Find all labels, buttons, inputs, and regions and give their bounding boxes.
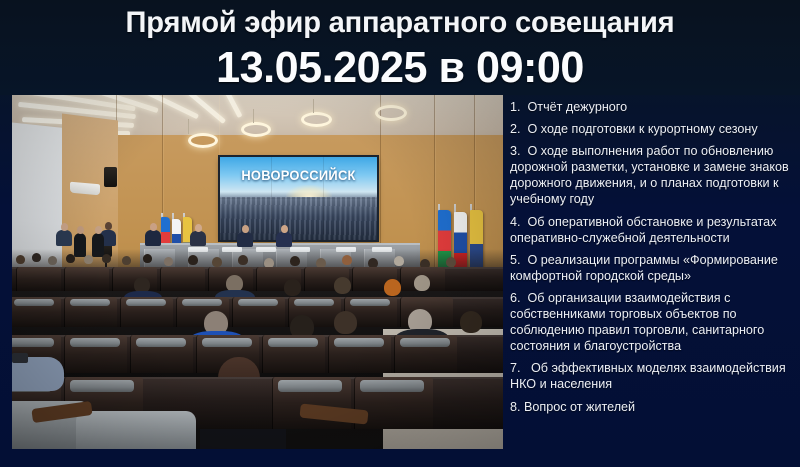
conference-hall-photo: НОВОРОССИЙСК	[12, 95, 503, 449]
agenda-item: 2. О ходе подготовки к курортному сезону	[510, 121, 795, 137]
presidium-person	[237, 232, 253, 247]
audience-head	[290, 256, 300, 266]
audience-head	[384, 279, 401, 296]
audience-head	[414, 275, 430, 291]
audience-head	[460, 311, 482, 333]
agenda-item: 6. Об организации взаимодействия с собст…	[510, 290, 795, 354]
agenda-item: 3. О ходе выполнения работ по обновлению…	[510, 143, 795, 207]
seat-headrest	[360, 380, 424, 392]
seat-back	[64, 267, 109, 291]
standing-officer-head	[95, 226, 102, 234]
audience-head	[334, 311, 357, 334]
audience-head	[143, 254, 152, 263]
seat-headrest	[350, 299, 390, 306]
pendant-rod	[188, 119, 189, 134]
audience-head	[164, 257, 173, 266]
presidium-person-head	[195, 224, 202, 232]
seat-headrest	[202, 338, 252, 347]
pendant-lamp	[301, 112, 332, 127]
seat-headrest	[400, 338, 450, 347]
pendant-rod	[253, 109, 254, 123]
audience-head	[238, 255, 248, 265]
agenda-item: 8. Вопрос от жителей	[510, 399, 795, 415]
audience-head	[188, 255, 198, 265]
pendant-lamp	[241, 122, 271, 137]
seat-headrest	[70, 338, 120, 347]
seat-headrest	[294, 299, 334, 306]
audience-head	[84, 255, 93, 264]
audience-head	[446, 257, 456, 267]
pendant-lamp	[375, 105, 407, 121]
seat-headrest	[268, 338, 318, 347]
presidium-person	[276, 232, 292, 247]
audience-head	[32, 253, 41, 262]
presidium-person-head	[105, 222, 112, 230]
presidium-person-head	[242, 225, 249, 233]
presidium-person	[190, 231, 206, 246]
audience-head	[212, 257, 222, 267]
audience-head	[394, 256, 404, 266]
presidium-person-head	[150, 223, 157, 231]
videowall-city-name: НОВОРОССИЙСК	[226, 167, 370, 183]
audience-head	[102, 254, 111, 263]
presidium-person-head	[61, 223, 68, 231]
audience-head	[284, 279, 301, 296]
seat-headrest	[238, 299, 278, 306]
agenda-item: 1. Отчёт дежурного	[510, 99, 795, 115]
seat-headrest	[12, 338, 54, 347]
photo-scene: НОВОРОССИЙСК	[12, 95, 503, 449]
smartphone	[12, 353, 28, 363]
audience-head	[334, 277, 351, 294]
audience-head	[48, 256, 57, 265]
audience-head	[122, 256, 131, 265]
presidium-person	[145, 230, 161, 246]
seat-headrest	[182, 299, 222, 306]
broadcast-datetime: 13.05.2025 в 09:00	[8, 43, 792, 93]
audience-area	[12, 249, 503, 449]
agenda-item: 5. О реализации программы «Формирование …	[510, 252, 795, 284]
pendant-rod	[313, 99, 314, 113]
presidium-person	[56, 230, 72, 246]
audience-head	[66, 254, 75, 263]
seat-back	[16, 267, 61, 291]
poster-header: Прямой эфир аппаратного совещания 13.05.…	[0, 0, 800, 95]
agenda-item: 4. Об оперативной обстановке и результат…	[510, 214, 795, 246]
seat-back	[160, 267, 205, 291]
broadcast-announcement-poster: Прямой эфир аппаратного совещания 13.05.…	[0, 0, 800, 467]
front-seat	[76, 411, 196, 449]
wall-speaker	[104, 167, 117, 187]
seat-headrest	[278, 380, 342, 392]
seat-headrest	[334, 338, 384, 347]
standing-officer-head	[77, 226, 84, 234]
seat-headrest	[70, 299, 110, 306]
presidium-person-head	[281, 225, 288, 233]
agenda-list: 1. Отчёт дежурного 2. О ходе подготовки …	[510, 99, 795, 421]
seat-headrest	[70, 380, 134, 392]
page-title: Прямой эфир аппаратного совещания	[12, 0, 788, 43]
audience-head	[16, 255, 25, 264]
pendant-lamp	[188, 133, 218, 148]
seat-headrest	[136, 338, 186, 347]
audience-head	[342, 255, 352, 265]
seat-headrest	[14, 299, 54, 306]
agenda-item: 7. Об эффективных моделях взаимодействия…	[510, 360, 795, 392]
seat-headrest	[126, 299, 166, 306]
